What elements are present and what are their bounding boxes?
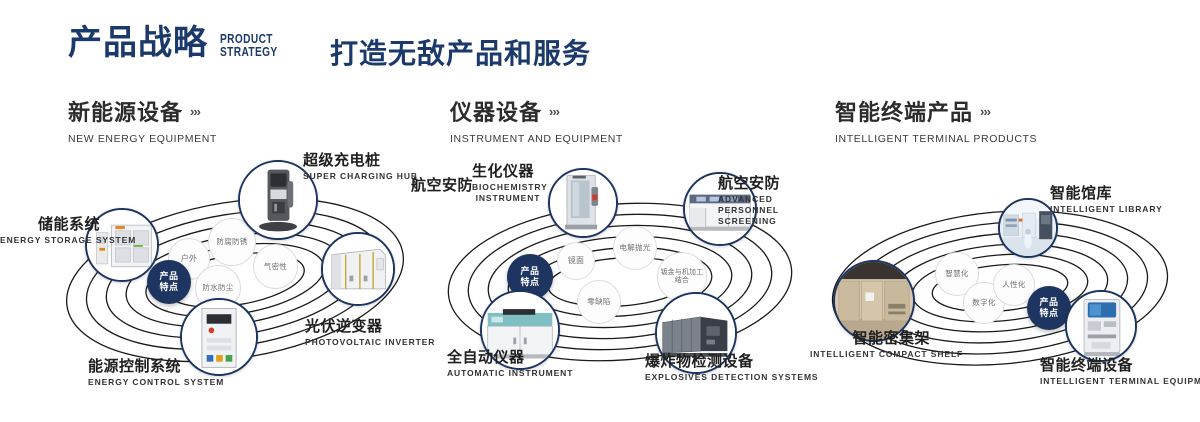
- pv-inverter-cabinet-icon: [323, 234, 393, 304]
- poster-subtitle: 打造无敌产品和服务: [330, 32, 591, 72]
- caption-biochemistry-instrument: 生化仪器 BIOCHEMISTRY INSTRUMENT: [472, 163, 544, 204]
- poster-title: 产品战略 PRODUCT STRATEGY: [68, 26, 294, 60]
- poster-title-en: PRODUCT STRATEGY: [220, 32, 278, 61]
- chevron-right-icon: ›››: [980, 104, 990, 119]
- smart-library-room-icon: [1000, 200, 1056, 256]
- section-title-new-energy-equipment: 新能源设备››› NEW ENERGY EQUIPMENT: [68, 95, 217, 145]
- node-photovoltaic-inverter[interactable]: [321, 232, 395, 306]
- caption-photovoltaic-inverter: 光伏逆变器 PHOTOVOLTAIC INVERTER: [305, 318, 435, 348]
- node-biochemistry-instrument[interactable]: [548, 168, 618, 238]
- section-title-en: INTELLIGENT TERMINAL PRODUCTS: [835, 133, 1037, 145]
- node-intelligent-terminal-equipment[interactable]: [1065, 290, 1137, 362]
- poster-title-en-line1: PRODUCT: [220, 32, 278, 45]
- feature-bubble: 电解抛光: [613, 226, 657, 270]
- section-title-cn: 智能终端产品: [835, 95, 973, 127]
- caption-intelligent-terminal-equipment: 智能终端设备 INTELLIGENT TERMINAL EQUIPMENT: [1040, 357, 1200, 387]
- caption-intelligent-compact-shelf: 智能密集架 INTELLIGENT COMPACT SHELF: [810, 330, 930, 360]
- caption-energy-storage-system: 储能系统 ENERGY STORAGE SYSTEM: [0, 216, 100, 246]
- caption-explosives-detection-systems: 爆炸物检测设备 EXPLOSIVES DETECTION SYSTEMS: [645, 353, 819, 383]
- compact-shelving-icon: [835, 262, 913, 340]
- section-title-cn: 新能源设备: [68, 95, 183, 127]
- section-title-en: INSTRUMENT AND EQUIPMENT: [450, 133, 623, 145]
- caption-aviation-security-left: 航空安防: [411, 177, 473, 194]
- feature-bubble: 镜面: [557, 242, 595, 280]
- caption-intelligent-library: 智能馆库 INTELLIGENT LIBRARY: [1050, 185, 1163, 215]
- caption-energy-control-system: 能源控制系统 ENERGY CONTROL SYSTEM: [88, 358, 224, 388]
- section-title-cn: 仪器设备: [450, 95, 542, 127]
- caption-advanced-personnel-screening: 航空安防 ADVANCED PERSONNEL SCREENING: [718, 175, 798, 226]
- section-title-en: NEW ENERGY EQUIPMENT: [68, 133, 217, 145]
- feature-bubble: 零缺陷: [577, 280, 621, 324]
- caption-super-charging-hub: 超级充电桩 SUPER CHARGING HUB: [303, 152, 418, 182]
- self-service-kiosk-icon: [1067, 292, 1135, 360]
- poster-title-cn: 产品战略: [68, 26, 208, 60]
- chevron-right-icon: ›››: [190, 104, 200, 119]
- feature-bubble: 气密性: [253, 244, 298, 289]
- poster-title-en-line2: STRATEGY: [220, 45, 278, 58]
- section-title-instrument-and-equipment: 仪器设备››› INSTRUMENT AND EQUIPMENT: [450, 95, 623, 145]
- chevron-right-icon: ›››: [549, 104, 559, 119]
- biochemistry-scanner-icon: [550, 170, 616, 236]
- poster-canvas: 产品战略 PRODUCT STRATEGY 打造无敌产品和服务 新能源设备›››…: [0, 0, 1200, 422]
- section-title-intelligent-terminal-products: 智能终端产品››› INTELLIGENT TERMINAL PRODUCTS: [835, 95, 1037, 145]
- caption-automatic-instrument: 全自动仪器 AUTOMATIC INSTRUMENT: [447, 349, 573, 379]
- node-intelligent-library[interactable]: [998, 198, 1058, 258]
